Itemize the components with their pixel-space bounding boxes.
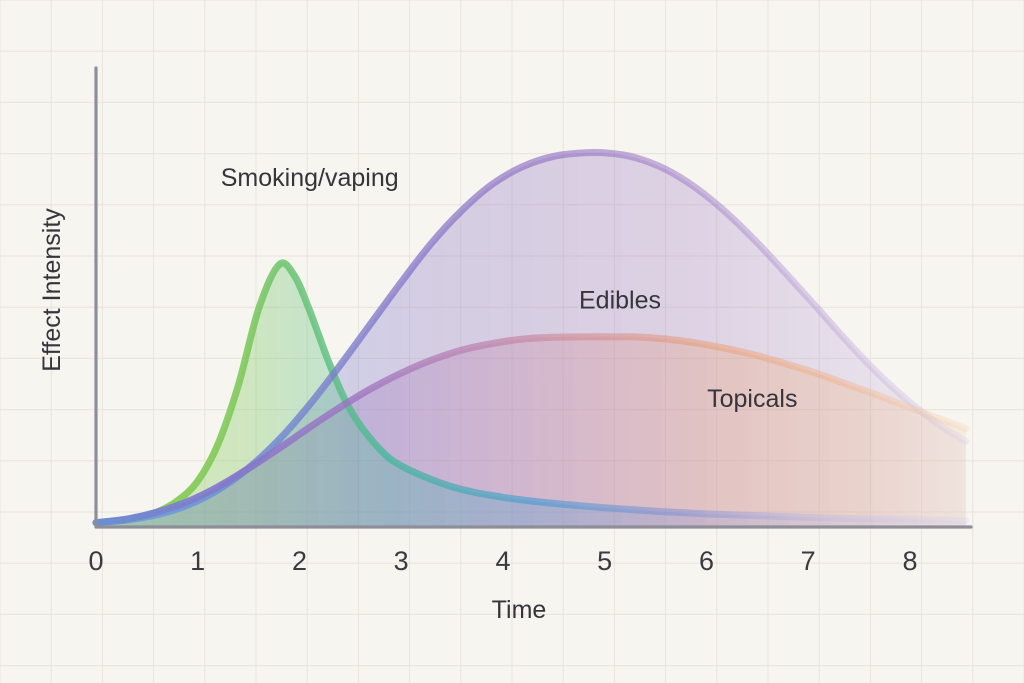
x-tick-label: 2 [292,546,307,576]
x-tick-label: 0 [88,546,103,576]
x-tick-label: 4 [495,546,510,576]
x-tick-label: 7 [801,546,816,576]
series-label-smoking-vaping: Smoking/vaping [221,164,399,192]
x-axis-tick-labels: 012345678 [88,546,917,576]
x-axis-title: Time [492,596,547,624]
x-tick-label: 5 [597,546,612,576]
x-tick-label: 1 [190,546,205,576]
effect-intensity-chart: 012345678 Smoking/vapingEdiblesTopicals … [0,0,1024,683]
series-label-edibles: Edibles [579,286,661,314]
x-tick-label: 6 [699,546,714,576]
x-tick-label: 3 [394,546,409,576]
chart-container: 012345678 Smoking/vapingEdiblesTopicals … [0,0,1024,683]
y-axis-title: Effect Intensity [38,208,66,372]
series-label-topicals: Topicals [707,385,797,413]
x-tick-label: 8 [902,546,917,576]
